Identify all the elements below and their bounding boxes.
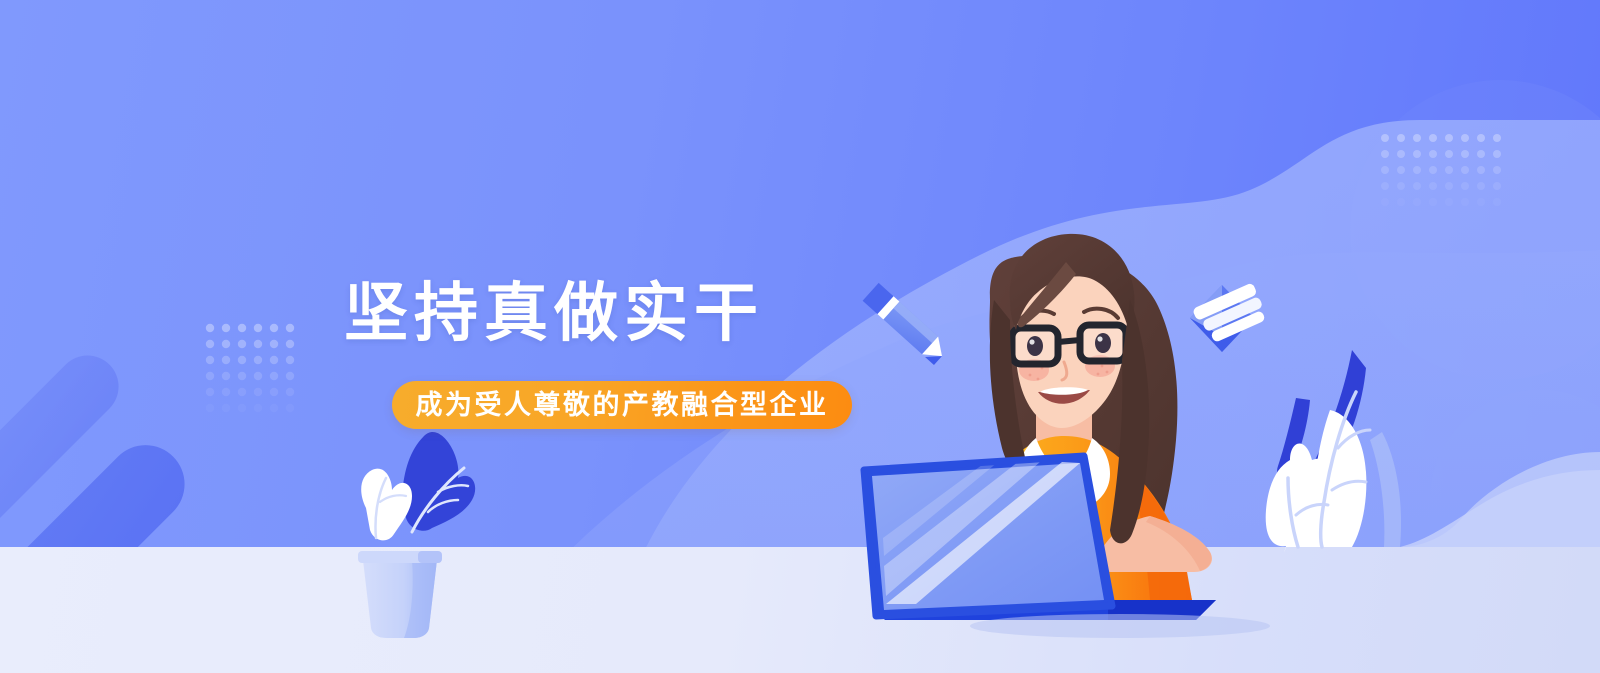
laptop — [864, 456, 1270, 638]
subtitle-pill: 成为受人尊敬的产教融合型企业 — [392, 381, 852, 429]
potted-plant — [358, 432, 475, 638]
pencil — [863, 283, 950, 365]
illustration — [0, 0, 1600, 673]
subtitle-pill-label: 成为受人尊敬的产教融合型企业 — [416, 392, 829, 419]
headline-wrap: 坚持真做实干 — [344, 281, 764, 345]
hero-banner: 坚持真做实干 成为受人尊敬的产教融合型企业 — [0, 0, 1600, 673]
envelope-with-papers — [1190, 282, 1269, 352]
leaf-cluster-right — [1266, 350, 1401, 552]
page-title: 坚持真做实干 — [344, 281, 764, 345]
